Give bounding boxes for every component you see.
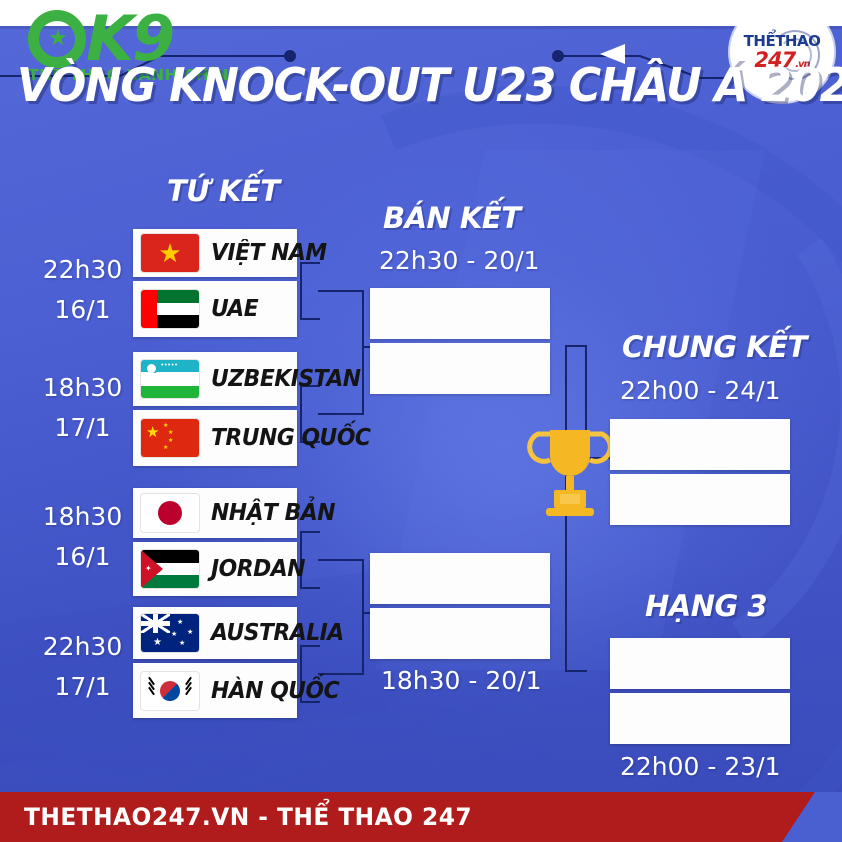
team-name: UAE <box>211 296 258 322</box>
qf2-time: 18h30 <box>30 368 135 408</box>
team-name: UZBEKISTAN <box>211 366 361 392</box>
star-icon: ★ <box>48 28 66 50</box>
qf2-schedule: 18h30 17/1 <box>30 368 135 448</box>
team-name: VIỆT NAM <box>211 240 327 266</box>
connector-qf2-out <box>318 413 364 415</box>
final-slot-top[interactable] <box>610 419 790 470</box>
flag-uzbekistan-icon: ••••• <box>141 360 199 398</box>
team-row[interactable]: UAE <box>133 281 297 337</box>
qf1-time: 22h30 <box>30 250 135 290</box>
flag-jordan-icon: ✦ <box>141 550 199 588</box>
qf3-schedule: 18h30 16/1 <box>30 497 135 577</box>
team-row[interactable]: ★ VIỆT NAM <box>133 229 297 277</box>
team-row[interactable]: HÀN QUỐC <box>133 663 297 718</box>
qf1-schedule: 22h30 16/1 <box>30 250 135 330</box>
flag-china-icon: ★ ★ ★ ★ ★ <box>141 419 199 457</box>
heading-semifinal: BÁN KẾT <box>383 201 520 235</box>
page-title: VÒNG KNOCK-OUT U23 CHÂU Á 2026 <box>17 58 825 112</box>
team-name: NHẬT BẢN <box>211 500 335 526</box>
connector-qf3-bottom <box>300 587 320 589</box>
third-place-schedule: 22h00 - 23/1 <box>620 752 781 781</box>
connector-qf1 <box>300 262 302 320</box>
footer-bar: THETHAO247.VN - THỂ THAO 247 <box>0 792 842 842</box>
flag-uae-icon <box>141 290 199 328</box>
final-slot-bottom[interactable] <box>610 474 790 525</box>
connector-final-bottom <box>565 670 587 672</box>
sf2-slot-top[interactable] <box>370 553 550 604</box>
final-schedule: 22h00 - 24/1 <box>620 376 781 405</box>
sf1-slot-top[interactable] <box>370 288 550 339</box>
sf2-schedule: 18h30 - 20/1 <box>381 666 542 695</box>
connector-qf3-out <box>318 559 364 561</box>
team-name: HÀN QUỐC <box>211 678 339 704</box>
team-row[interactable]: ✦ JORDAN <box>133 542 297 596</box>
qf4-time: 22h30 <box>30 627 135 667</box>
flag-australia-icon: ★ ★ ★ ★ ★ <box>141 614 199 652</box>
sf1-slot-bottom[interactable] <box>370 343 550 394</box>
qf1-date: 16/1 <box>30 290 135 330</box>
team-name: TRUNG QUỐC <box>211 425 370 451</box>
third-place-slot-top[interactable] <box>610 638 790 689</box>
connector-qf1-out <box>318 290 364 292</box>
team-row[interactable]: ★ ★ ★ ★ ★ AUSTRALIA <box>133 607 297 659</box>
heading-quarterfinal: TỨ KẾT <box>167 174 280 208</box>
infographic-root: ★ K9 THỂ THAO XANH CHÍN THỂTHAO 247.vn V… <box>0 0 842 842</box>
qf3-time: 18h30 <box>30 497 135 537</box>
flag-vietnam-icon: ★ <box>141 234 199 272</box>
qf2-date: 17/1 <box>30 408 135 448</box>
flag-japan-icon <box>141 494 199 532</box>
qf4-schedule: 22h30 17/1 <box>30 627 135 707</box>
footer-text: THETHAO247.VN - THỂ THAO 247 <box>24 803 472 831</box>
connector-qf1-bottom <box>300 318 320 320</box>
connector-sf2-merge <box>362 559 364 675</box>
team-name: JORDAN <box>211 556 305 582</box>
team-row[interactable]: ★ ★ ★ ★ ★ TRUNG QUỐC <box>133 410 297 466</box>
connector-final-top <box>565 345 587 347</box>
sf2-slot-bottom[interactable] <box>370 608 550 659</box>
connector-qf3-top <box>300 531 320 533</box>
sf1-schedule: 22h30 - 20/1 <box>379 246 540 275</box>
team-row[interactable]: NHẬT BẢN <box>133 488 297 538</box>
team-name: AUSTRALIA <box>211 620 344 646</box>
team-row[interactable]: ••••• UZBEKISTAN <box>133 352 297 406</box>
qf3-date: 16/1 <box>30 537 135 577</box>
heading-final: CHUNG KẾT <box>622 330 807 364</box>
third-place-slot-bottom[interactable] <box>610 693 790 744</box>
qf4-date: 17/1 <box>30 667 135 707</box>
trophy-icon <box>524 418 616 522</box>
connector-qf4-out <box>318 673 364 675</box>
heading-third-place: HẠNG 3 <box>645 589 767 623</box>
connector-sf1-merge <box>362 290 364 415</box>
flag-southkorea-icon <box>141 672 199 710</box>
